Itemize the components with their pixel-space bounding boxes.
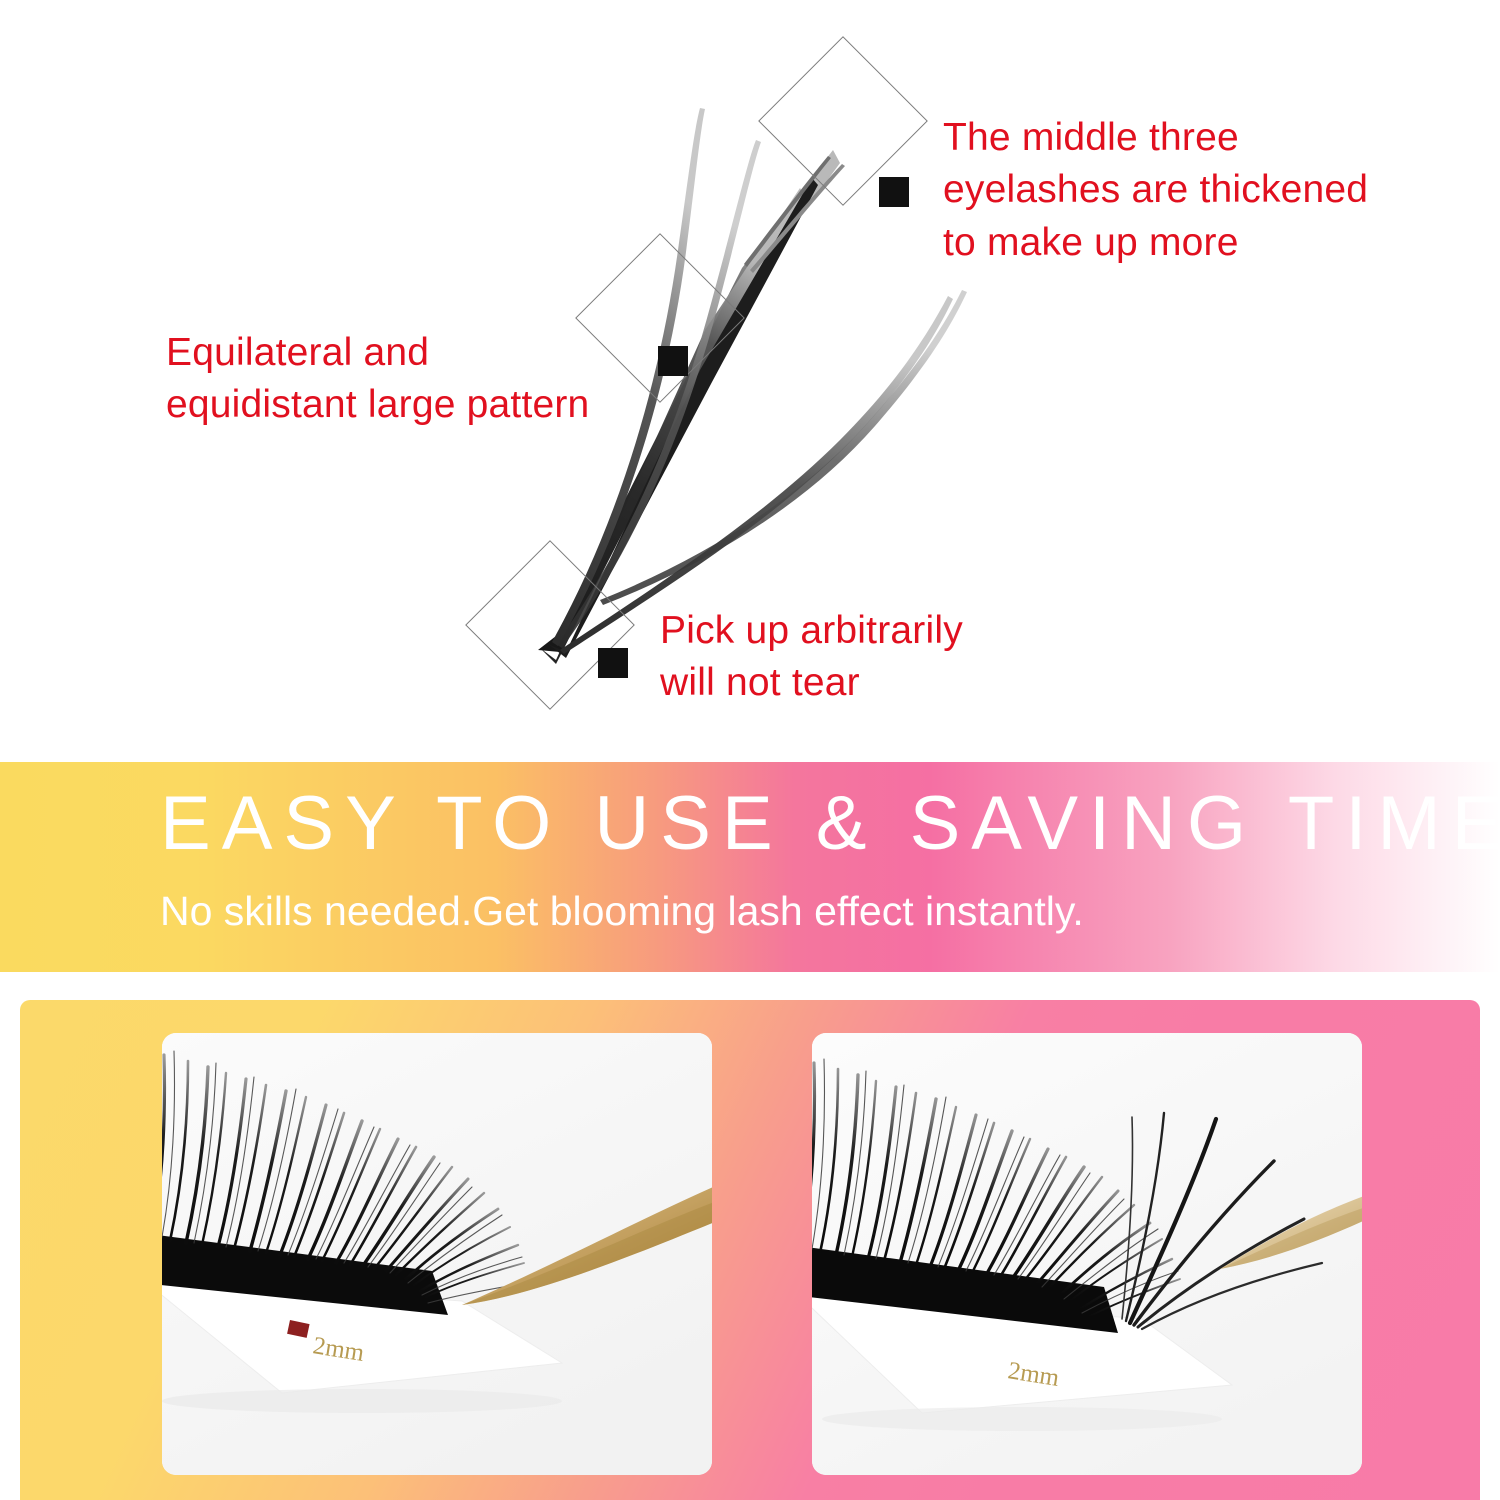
headline-subtitle: No skills needed.Get blooming lash effec… bbox=[160, 888, 1084, 935]
callout-marker-square-icon bbox=[879, 177, 909, 207]
headline-banner: EASY TO USE & SAVING TIME No skills need… bbox=[0, 762, 1500, 972]
photo-lash-strip-with-fan: 2mm bbox=[812, 1033, 1362, 1475]
callout-diamond-bottom-left bbox=[490, 565, 610, 685]
diamond-outline-icon bbox=[465, 540, 635, 710]
callout-marker-square-icon bbox=[598, 648, 628, 678]
callout-marker-square-icon bbox=[658, 346, 688, 376]
annotation-equilateral: Equilateral and equidistant large patter… bbox=[166, 327, 636, 432]
photo-lash-strip-with-tweezers: 2mm bbox=[162, 1033, 712, 1475]
annotation-middle-three: The middle three eyelashes are thickened… bbox=[943, 112, 1393, 269]
annotation-pick-up: Pick up arbitrarily will not tear bbox=[660, 605, 1060, 710]
top-diagram-section: The middle three eyelashes are thickened… bbox=[0, 0, 1500, 755]
headline-title: EASY TO USE & SAVING TIME bbox=[160, 782, 1500, 866]
photo-card-right: 2mm bbox=[812, 1033, 1362, 1475]
photo-card-left: 2mm bbox=[162, 1033, 712, 1475]
callout-diamond-top-right bbox=[783, 61, 903, 181]
bottom-photo-panel: 2mm bbox=[20, 1000, 1480, 1500]
